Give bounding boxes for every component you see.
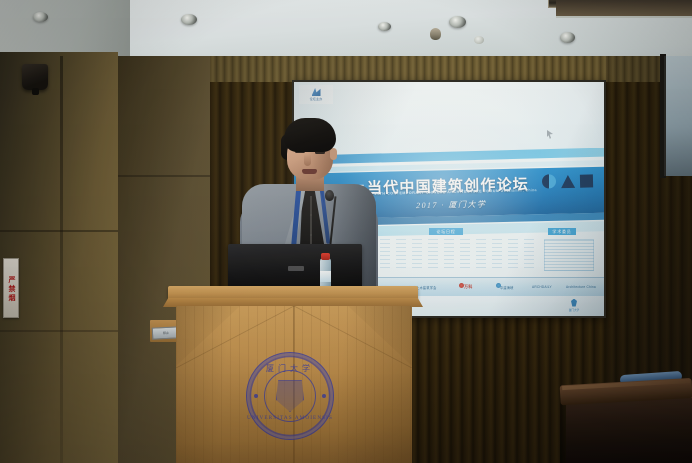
speaker-mount [32,88,39,95]
water-bottle-cap-icon [321,253,330,260]
window [664,56,692,176]
panel-header-text: 学术委员 [552,229,571,235]
microphone-icon [325,190,334,201]
banner-calligraphy: 2017 · 厦门大学 [416,198,526,211]
downlight-icon [181,14,197,25]
wall-speaker-icon [22,64,48,90]
downlight-icon [33,12,48,22]
wall-safety-sign: 严 禁 烟 [3,258,19,318]
mouth [302,169,317,174]
sponsor-label: 万科 [464,284,472,290]
ceiling-skylight-panel [556,0,692,18]
schedule-panel-header-right: 学术委员 [548,228,576,235]
bottom-logo-caption: 厦门大学 [569,308,579,312]
ear [330,148,337,160]
slide-organizer-logo: 论坛主办 [299,85,333,104]
sponsor-label: ARCHDAILY [532,285,552,289]
nose [304,154,311,166]
banner-city: Xiamen, China [508,188,537,193]
water-bottle-label [320,271,331,282]
downlight-icon [449,16,466,28]
sponsor-mark-icon [496,283,501,288]
logo-mark-icon [312,88,321,96]
banner-shapes-group [542,169,594,192]
slide-bottom-logo: 厦门大学 [566,298,582,312]
triangle-shape-icon [561,174,575,187]
sponsor-mark-icon [459,283,464,288]
laptop-brand-logo [288,266,304,271]
seating-shadow [560,398,692,463]
wall-sign-char: 禁 [7,285,15,292]
podium-top [168,286,418,300]
laptop[interactable] [228,244,362,286]
shield-logo-icon [571,299,577,307]
left-wall-seam [0,330,118,332]
square-shape-icon [580,174,593,187]
downlight-icon [560,32,575,43]
left-wall-corner [60,56,63,463]
left-wall-seam [0,230,118,232]
schedule-panel-header-left: 论坛日程 [429,228,463,235]
sprinkler-icon [430,28,441,40]
downlight-icon [378,22,391,31]
hair [284,118,336,152]
wall-sign-char: 烟 [7,294,15,301]
podium-shading [176,306,412,463]
ceiling-vent-icon [474,36,484,44]
slide-logo-caption: 论坛主办 [310,97,323,101]
sponsor-label: 中建海峡 [500,285,514,290]
wall-sign-char: 严 [7,276,15,283]
sponsor-label: Architecture China [566,285,596,289]
committee-list-right [544,239,594,271]
panel-header-text: 论坛日程 [436,229,455,235]
circle-shape-icon [542,174,556,188]
lecture-hall-photo: 严 禁 烟 论坛主办 第20届 当代中国建筑创作论坛 THE 20TH CONT… [0,0,692,463]
